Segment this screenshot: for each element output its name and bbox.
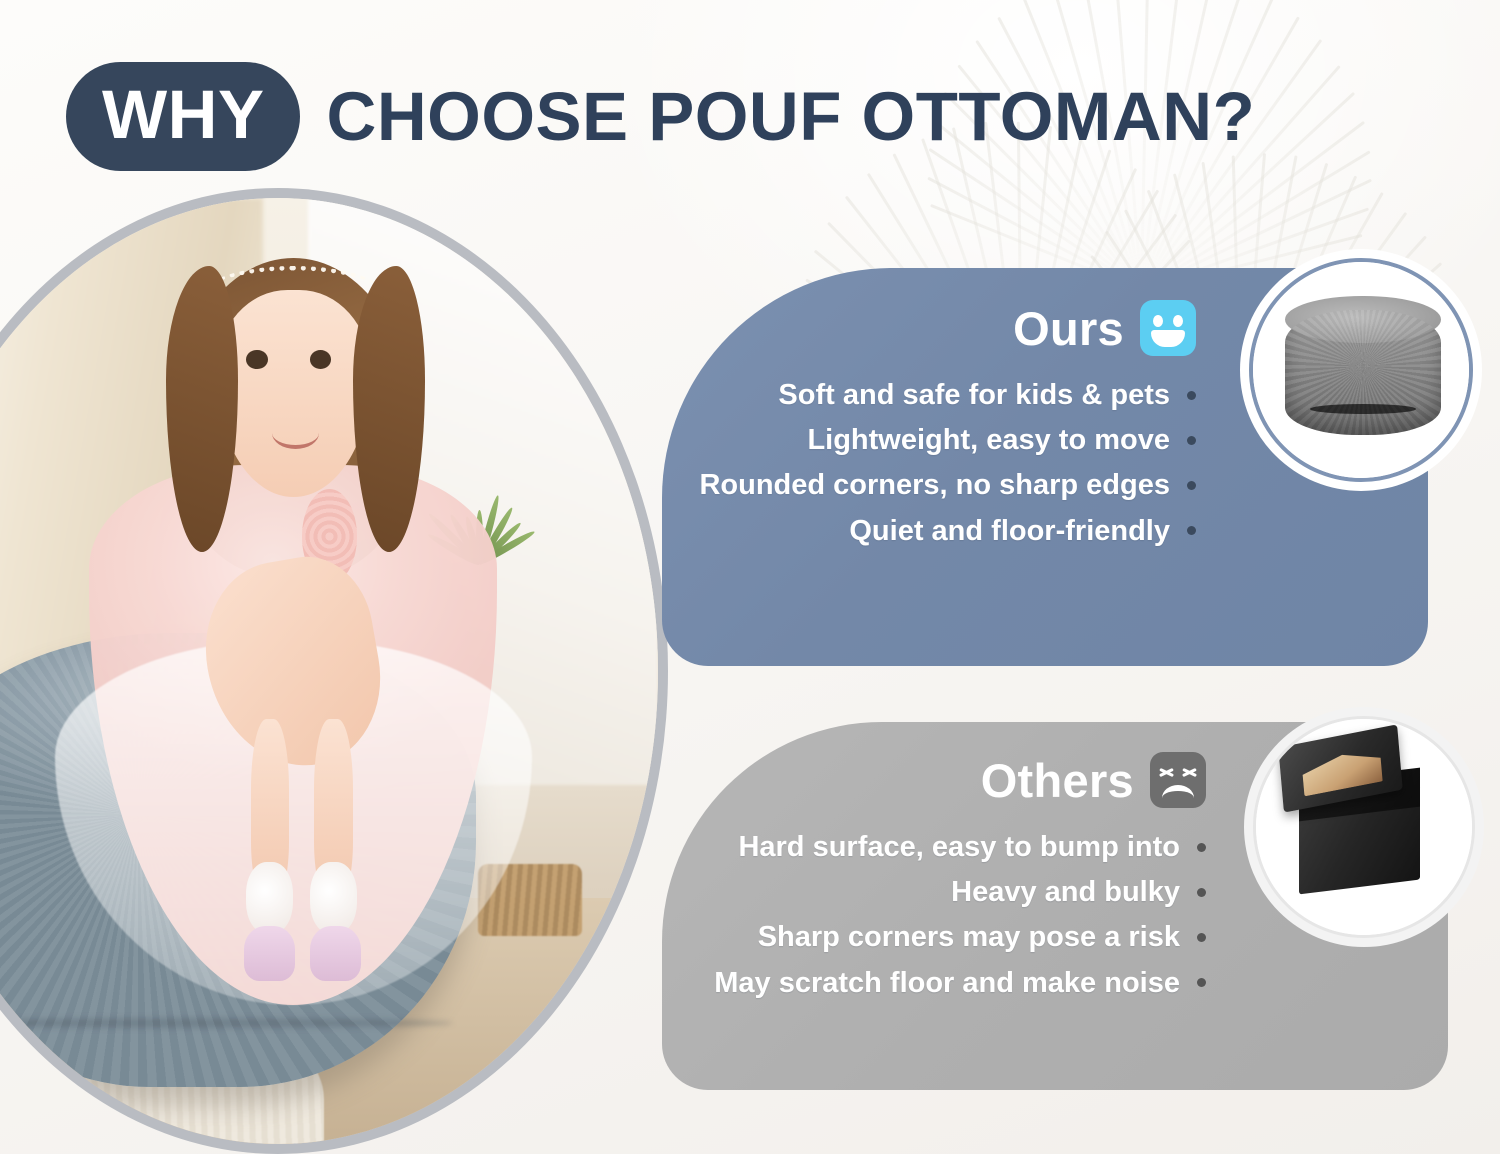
bullet-dot-icon [1187, 526, 1196, 535]
shoe-left [244, 926, 295, 982]
ours-bullet-text: Lightweight, easy to move [807, 423, 1170, 457]
lid-underside [1301, 748, 1382, 797]
ours-title: Ours [1013, 305, 1124, 352]
ours-bullet-list: Soft and safe for kids & pets Lightweigh… [699, 378, 1196, 559]
others-bullet-text: Hard surface, easy to bump into [738, 830, 1180, 864]
shoe-right [310, 926, 361, 982]
emoji-smile [1151, 330, 1185, 347]
pouf-base [1310, 404, 1416, 414]
hero-photo-circle [0, 188, 668, 1154]
emoji-eye-left [1159, 765, 1174, 779]
emoji-eye-right [1182, 765, 1197, 779]
others-product-image [1256, 719, 1472, 935]
list-item: Sharp corners may pose a risk [714, 920, 1206, 954]
emoji-frown [1162, 785, 1194, 798]
ours-product-image [1253, 262, 1469, 478]
bullet-dot-icon [1197, 978, 1206, 987]
list-item: Soft and safe for kids & pets [699, 378, 1196, 412]
ours-bullet-text: Soft and safe for kids & pets [778, 378, 1170, 412]
infographic-canvas: WHY CHOOSE POUF OTTOMAN? [0, 0, 1500, 1154]
eye-right [310, 350, 331, 369]
mouth [272, 417, 319, 449]
bullet-dot-icon [1197, 843, 1206, 852]
ours-product-thumbnail [1249, 258, 1473, 482]
others-bullet-list: Hard surface, easy to bump into Heavy an… [714, 830, 1206, 1011]
list-item: Quiet and floor-friendly [699, 514, 1196, 548]
ours-header: Ours [1013, 300, 1196, 356]
list-item: Hard surface, easy to bump into [714, 830, 1206, 864]
bullet-dot-icon [1197, 888, 1206, 897]
bullet-dot-icon [1187, 481, 1196, 490]
why-badge: WHY [66, 62, 300, 171]
child-model [80, 226, 506, 1021]
title-text: CHOOSE POUF OTTOMAN? [326, 82, 1255, 151]
others-title: Others [981, 757, 1134, 804]
list-item: Rounded corners, no sharp edges [699, 468, 1196, 502]
ours-bullet-text: Quiet and floor-friendly [849, 514, 1170, 548]
round-pouf-product [1285, 310, 1441, 435]
smiling-face-emoji [1140, 300, 1196, 356]
ours-bullet-text: Rounded corners, no sharp edges [699, 468, 1170, 502]
list-item: May scratch floor and make noise [714, 966, 1206, 1000]
list-item: Heavy and bulky [714, 875, 1206, 909]
bullet-dot-icon [1187, 391, 1196, 400]
hero-lifestyle-image [0, 198, 658, 1144]
sock-left [246, 862, 293, 934]
others-bullet-text: Sharp corners may pose a risk [758, 920, 1180, 954]
bullet-dot-icon [1197, 933, 1206, 942]
eye-left [246, 350, 267, 369]
emoji-eye-left [1153, 315, 1163, 327]
list-item: Lightweight, easy to move [699, 423, 1196, 457]
sock-right [310, 862, 357, 934]
others-bullet-text: May scratch floor and make noise [714, 966, 1180, 1000]
others-header: Others [981, 752, 1206, 808]
emoji-eye-right [1173, 315, 1183, 327]
bullet-dot-icon [1187, 436, 1196, 445]
page-title: WHY CHOOSE POUF OTTOMAN? [66, 62, 1255, 171]
frowning-face-emoji [1150, 752, 1206, 808]
others-bullet-text: Heavy and bulky [951, 875, 1180, 909]
others-product-thumbnail [1253, 716, 1475, 938]
